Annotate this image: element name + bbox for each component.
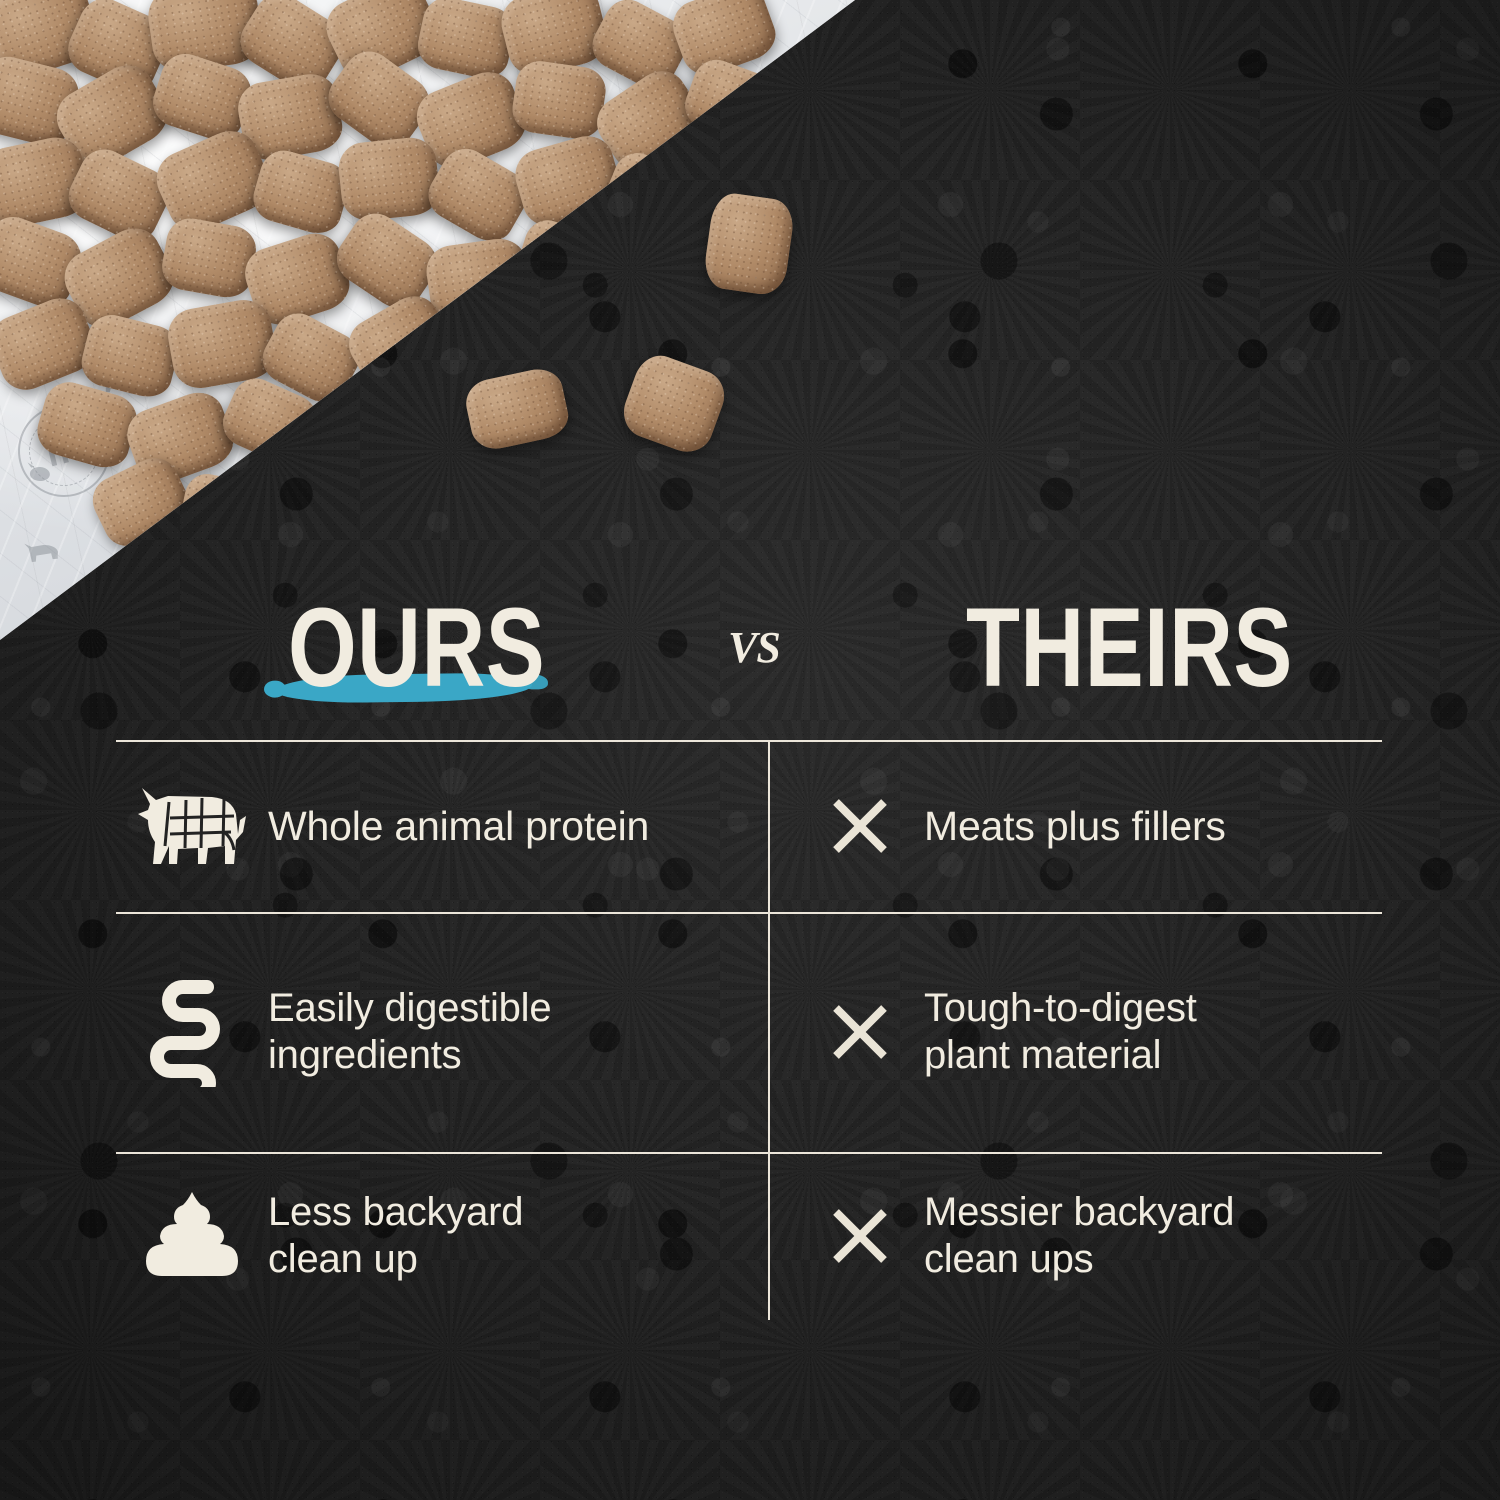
x-mark-icon xyxy=(796,1001,924,1063)
comparison-row: Easily digestible ingredients xyxy=(116,912,1382,1152)
product-comparison-infographic: OURS VS THEIRS xyxy=(0,0,1500,1500)
row1-ours-label: Whole animal protein xyxy=(268,802,649,850)
comparison-headers: OURS VS THEIRS xyxy=(116,592,1382,712)
row2-ours-line1: Easily digestible xyxy=(268,986,551,1030)
x-mark-icon xyxy=(796,1205,924,1267)
row3-ours-line1: Less backyard xyxy=(268,1190,523,1234)
comparison-grid: Whole animal protein Meats plus fillers xyxy=(116,740,1382,1320)
row3-ours-line2: clean up xyxy=(268,1237,418,1281)
row3-theirs-line1: Messier backyard xyxy=(924,1190,1234,1234)
row2-theirs-cell: Tough-to-digest plant material xyxy=(768,912,1382,1152)
row2-theirs-line1: Tough-to-digest xyxy=(924,986,1197,1030)
header-vs: VS xyxy=(728,622,780,673)
row1-theirs-label: Meats plus fillers xyxy=(924,802,1226,850)
x-mark-icon xyxy=(796,795,924,857)
row2-ours-line2: ingredients xyxy=(268,1033,461,1077)
row1-theirs-cell: Meats plus fillers xyxy=(768,740,1382,912)
row2-ours-cell: Easily digestible ingredients xyxy=(116,912,768,1152)
header-ours: OURS xyxy=(288,592,545,704)
intestine-digestive-icon xyxy=(116,977,268,1087)
poop-icon xyxy=(116,1190,268,1282)
row2-theirs-line2: plant material xyxy=(924,1033,1161,1077)
comparison-row: Whole animal protein Meats plus fillers xyxy=(116,740,1382,912)
row3-theirs-line2: clean ups xyxy=(924,1237,1093,1281)
header-theirs: THEIRS xyxy=(966,592,1293,704)
row1-ours-cell: Whole animal protein xyxy=(116,740,768,912)
cow-butcher-cuts-icon xyxy=(116,780,268,872)
row3-ours-label: Less backyard clean up xyxy=(268,1189,523,1283)
row3-theirs-label: Messier backyard clean ups xyxy=(924,1189,1234,1283)
row3-theirs-cell: Messier backyard clean ups xyxy=(768,1152,1382,1320)
comparison-row: Less backyard clean up M xyxy=(116,1152,1382,1320)
comparison-table: OURS VS THEIRS xyxy=(0,0,1500,1500)
row2-ours-label: Easily digestible ingredients xyxy=(268,985,551,1079)
row3-ours-cell: Less backyard clean up xyxy=(116,1152,768,1320)
row2-theirs-label: Tough-to-digest plant material xyxy=(924,985,1197,1079)
